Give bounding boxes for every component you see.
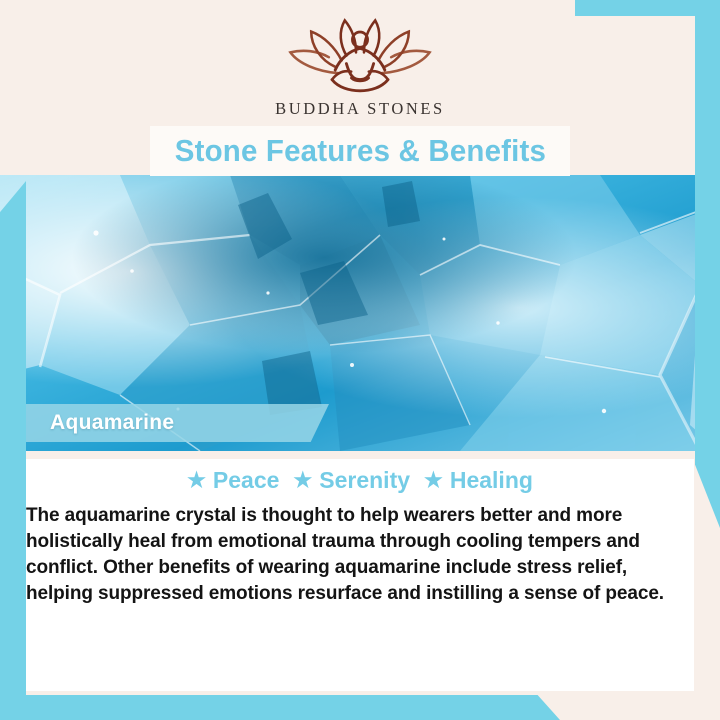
benefit-label: Peace (213, 467, 280, 494)
benefit-label: Serenity (319, 467, 410, 494)
star-icon: ★ (187, 470, 206, 491)
benefit-item-healing: ★ Healing (424, 467, 533, 494)
title-band: Stone Features & Benefits (150, 126, 570, 176)
page-title: Stone Features & Benefits (174, 133, 545, 169)
brand-name: BUDDHA STONES (275, 99, 445, 119)
description-text: The aquamarine crystal is thought to hel… (26, 503, 684, 607)
stone-name-label: Aquamarine (24, 404, 329, 442)
star-icon: ★ (424, 470, 443, 491)
benefit-item-serenity: ★ Serenity (293, 467, 410, 494)
frame-accent-bottom (0, 695, 560, 720)
lotus-meditation-icon (276, 14, 444, 94)
benefits-row: ★ Peace ★ Serenity ★ Healing (26, 459, 694, 494)
benefit-label: Healing (450, 467, 533, 494)
frame-accent-left (0, 181, 26, 699)
brand-logo: BUDDHA STONES (0, 14, 720, 119)
benefit-item-peace: ★ Peace (187, 467, 279, 494)
star-icon: ★ (293, 470, 312, 491)
stone-name-text: Aquamarine (24, 411, 174, 435)
frame-accent-right (695, 0, 720, 528)
content-panel: ★ Peace ★ Serenity ★ Healing The aquamar… (26, 459, 694, 691)
